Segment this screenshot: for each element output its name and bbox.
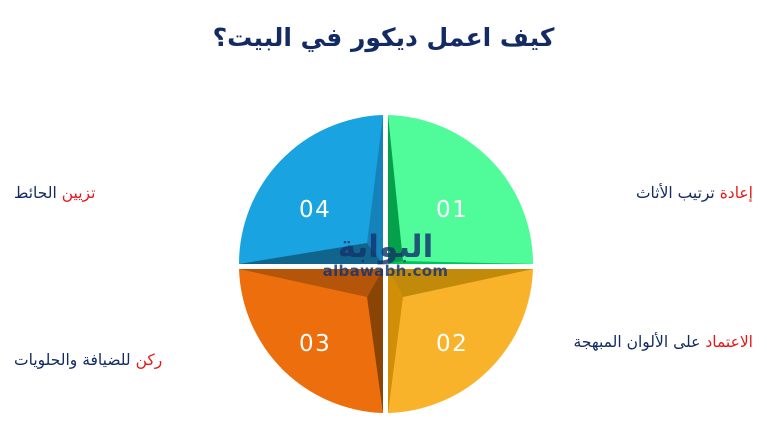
- pie-label-02-highlight: الاعتماد: [705, 333, 753, 351]
- pie-chart: 01 02 03 04: [231, 111, 537, 417]
- pie-label-03: ركن للضيافة والحلويات: [14, 349, 162, 372]
- pie-label-03-highlight: ركن: [136, 351, 163, 369]
- pie-label-02-text: على الألوان المبهجة: [574, 333, 701, 351]
- pie-label-01-text: ترتيب الأثاث: [636, 184, 715, 202]
- pie-label-02: الاعتماد على الألوان المبهجة: [523, 331, 753, 354]
- pie-slice-01-face: [388, 115, 533, 264]
- pie-label-04: تزيين الحائط: [14, 182, 95, 205]
- page-title: كيف اعمل ديكور في البيت؟: [0, 22, 767, 53]
- pie-label-03-text: للضيافة والحلويات: [14, 351, 131, 369]
- pie-slice-04[interactable]: [239, 115, 383, 264]
- pie-slice-04-face: [239, 115, 383, 264]
- pie-slice-02[interactable]: [388, 269, 533, 413]
- pie-label-01: إعادة ترتيب الأثاث: [636, 182, 753, 205]
- pie-label-04-highlight: تزيين: [62, 184, 96, 202]
- infographic-canvas: كيف اعمل ديكور في البيت؟: [0, 0, 767, 439]
- pie-slice-01[interactable]: [388, 115, 533, 264]
- pie-label-04-text: الحائط: [14, 184, 57, 202]
- pie-slice-03[interactable]: [239, 269, 383, 413]
- pie-label-01-highlight: إعادة: [720, 184, 753, 202]
- pie-chart-svg: [231, 111, 537, 417]
